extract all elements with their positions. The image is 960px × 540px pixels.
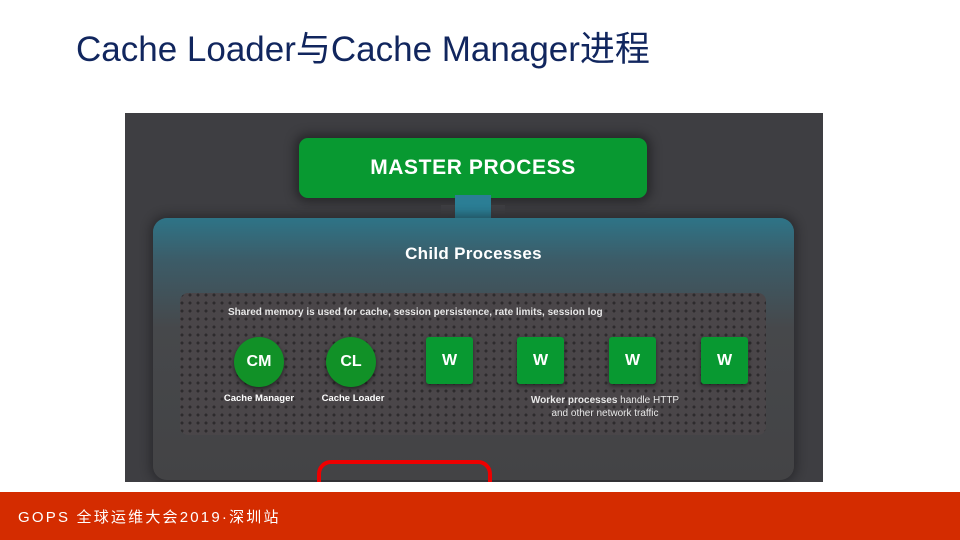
cache-manager-node: CM <box>234 337 284 387</box>
cache-manager-abbr: CM <box>247 353 272 371</box>
child-processes-panel: Child Processes Shared memory is used fo… <box>153 218 794 480</box>
master-process-label: MASTER PROCESS <box>370 156 576 180</box>
worker-process-node: W <box>701 337 748 384</box>
worker-process-node: W <box>517 337 564 384</box>
page-title: Cache Loader与Cache Manager进程 <box>76 26 650 74</box>
cache-loader-abbr: CL <box>340 353 361 371</box>
worker-process-node: W <box>426 337 473 384</box>
shared-memory-caption: Shared memory is used for cache, session… <box>228 307 603 318</box>
worker-abbr: W <box>442 352 457 370</box>
worker-abbr: W <box>533 352 548 370</box>
master-child-connector <box>455 195 491 219</box>
worker-caption-rest: handle HTTP <box>617 395 679 406</box>
worker-abbr: W <box>717 352 732 370</box>
worker-process-node: W <box>609 337 656 384</box>
worker-abbr: W <box>625 352 640 370</box>
shared-memory-area: Shared memory is used for cache, session… <box>180 293 766 435</box>
footer-branding-text: GOPS 全球运维大会2019·深圳站 <box>18 506 281 527</box>
cache-loader-node: CL <box>326 337 376 387</box>
worker-caption-line2: and other network traffic <box>551 408 658 419</box>
worker-caption-strong: Worker processes <box>531 395 618 406</box>
footer-bar: GOPS 全球运维大会2019·深圳站 <box>0 492 960 540</box>
child-processes-title: Child Processes <box>153 244 794 264</box>
worker-processes-caption: Worker processes handle HTTP and other n… <box>480 394 730 420</box>
diagram-panel: MASTER PROCESS Child Processes Shared me… <box>125 113 823 482</box>
cache-loader-caption: Cache Loader <box>298 393 408 404</box>
master-process-box: MASTER PROCESS <box>299 138 647 198</box>
